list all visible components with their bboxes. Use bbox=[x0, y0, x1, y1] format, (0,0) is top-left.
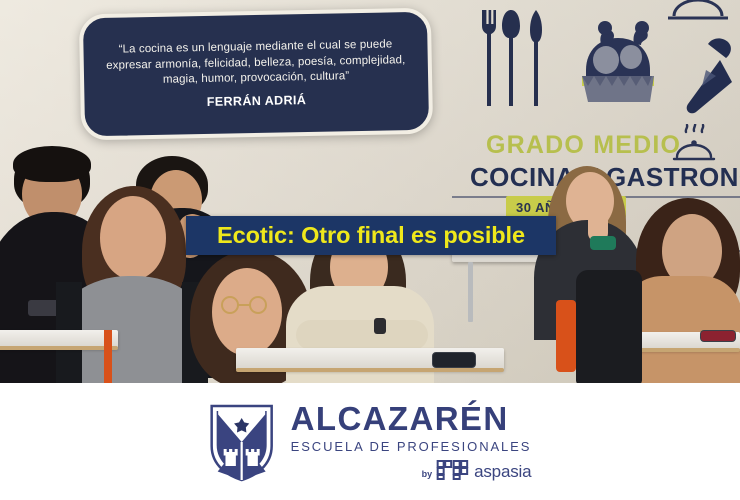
cloche-dome-icon bbox=[672, 124, 716, 166]
cloche-dome-icon-top bbox=[666, 0, 730, 26]
student-arms bbox=[296, 320, 428, 350]
quote-author: FERRÁN ADRIÁ bbox=[207, 93, 307, 109]
video-title-banner: Ecotic: Otro final es posible bbox=[186, 216, 556, 255]
brand-text-block: ALCAZARÉN ESCUELA DE PROFESIONALES by bbox=[291, 402, 532, 481]
chair-back bbox=[556, 300, 576, 372]
page-root: “La cocina es un lenguaje mediante el cu… bbox=[0, 0, 740, 500]
wall-quote-plaque: “La cocina es un lenguaje mediante el cu… bbox=[79, 8, 433, 141]
brand-name: ALCAZARÉN bbox=[291, 402, 532, 435]
brand-lockup: ALCAZARÉN ESCUELA DE PROFESIONALES by bbox=[209, 402, 532, 482]
student-hair-top bbox=[13, 146, 91, 182]
banner-title-text: Ecotic: Otro final es posible bbox=[217, 222, 525, 249]
student-face bbox=[100, 196, 166, 280]
student-collar bbox=[590, 236, 616, 250]
shield-crest-icon bbox=[209, 402, 275, 482]
phone-on-desk-front bbox=[432, 352, 476, 368]
wall-grado-text: GRADO MEDIO bbox=[486, 131, 681, 160]
brand-subtitle: ESCUELA DE PROFESIONALES bbox=[291, 440, 532, 453]
carrot-icon bbox=[676, 34, 740, 118]
phone-on-desk-right bbox=[700, 330, 736, 342]
chair-frame-left bbox=[104, 330, 112, 383]
hero-photo: “La cocina es un lenguaje mediante el cu… bbox=[0, 0, 740, 383]
roast-chicken-icon bbox=[572, 12, 664, 108]
eyeglasses-icon bbox=[216, 296, 274, 314]
partner-name: aspasia bbox=[474, 463, 531, 480]
desk-edge bbox=[0, 346, 118, 350]
desk-edge bbox=[236, 368, 504, 372]
logo-strip: ALCAZARÉN ESCUELA DE PROFESIONALES by bbox=[0, 383, 740, 500]
cutlery-icons bbox=[478, 8, 550, 108]
quote-text: “La cocina es un lenguaje mediante el cu… bbox=[97, 37, 414, 91]
partner-byline: by aspa bbox=[291, 459, 532, 481]
fp-logo-icon bbox=[436, 459, 470, 481]
desk-leg bbox=[468, 262, 473, 322]
coat-on-chair bbox=[576, 270, 642, 383]
by-label: by bbox=[422, 469, 433, 479]
wristwatch bbox=[374, 318, 386, 334]
